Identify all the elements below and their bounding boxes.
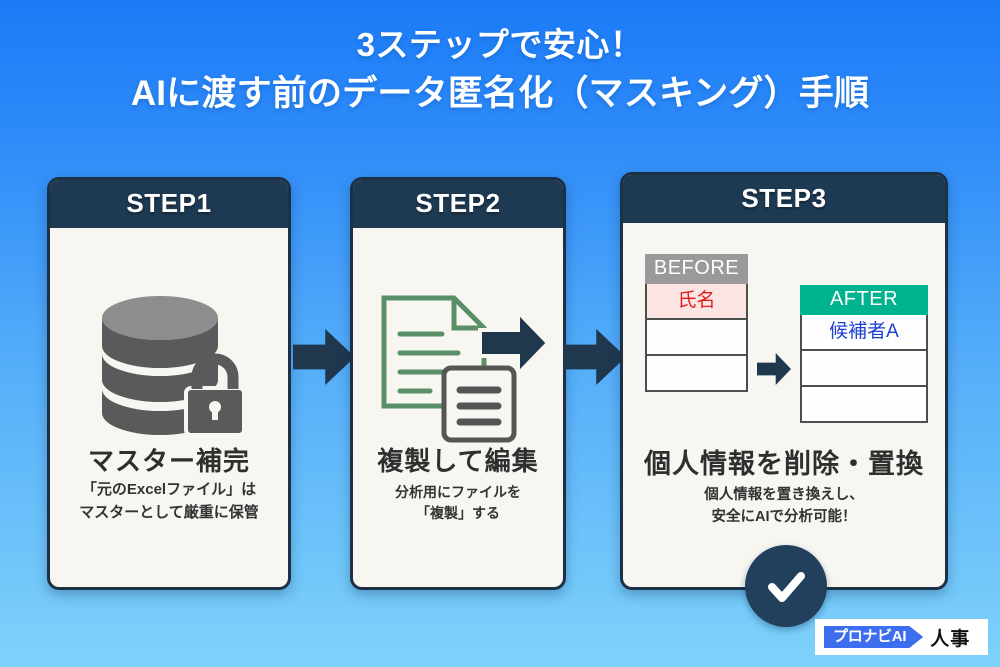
duplicate-document-icon [378, 292, 550, 444]
logo-badge-label: プロナビAI [824, 626, 923, 648]
title-line-2: AIに渡す前のデータ匿名化（マスキング）手順 [0, 69, 1000, 119]
connector-arrow-1-to-2 [293, 329, 355, 385]
after-table-header: AFTER [800, 285, 928, 315]
step-caption-2-line2: 「複製」する [416, 505, 500, 521]
before-table-row-1: 氏名 [645, 284, 748, 320]
before-table-row-2 [645, 320, 748, 356]
database-lock-icon [86, 292, 254, 440]
step-caption-2: 分析用にファイルを 「複製」する [350, 482, 566, 524]
page-title: 3ステップで安心！ AIに渡す前のデータ匿名化（マスキング）手順 [0, 22, 1000, 119]
step-badge-3: STEP3 [623, 175, 945, 223]
step-heading-1: マスター補完 [47, 441, 291, 478]
title-line-1: 3ステップで安心！ [0, 22, 1000, 69]
step-caption-1-line1: 「元のExcelファイル」は [82, 481, 256, 498]
step-heading-2: 複製して編集 [350, 441, 566, 478]
step-caption-2-line1: 分析用にファイルを [395, 484, 521, 500]
brand-logo: プロナビAI 人事 [815, 619, 988, 655]
step-badge-2: STEP2 [353, 180, 563, 228]
after-table-row-2 [800, 351, 928, 387]
step-caption-1: 「元のExcelファイル」は マスターとして厳重に保管 [47, 479, 291, 524]
connector-arrow-2-to-3 [564, 329, 626, 385]
before-table: BEFORE 氏名 [645, 254, 748, 392]
logo-suffix-label: 人事 [930, 624, 970, 651]
check-icon [762, 562, 810, 610]
step-badge-1: STEP1 [50, 180, 288, 228]
before-table-row-3 [645, 356, 748, 392]
check-badge [745, 545, 827, 627]
after-table-row-3 [800, 387, 928, 423]
step-heading-3: 個人情報を削除・置換 [620, 442, 948, 481]
step-caption-3-line2: 安全にAIで分析可能！ [712, 509, 857, 525]
step-caption-3-line1: 個人情報を置き換えし、 [704, 487, 864, 503]
after-table-row-1: 候補者A [800, 315, 928, 351]
step-caption-3: 個人情報を置き換えし、 安全にAIで分析可能！ [620, 485, 948, 529]
step-caption-1-line2: マスターとして厳重に保管 [79, 504, 259, 521]
after-table: AFTER 候補者A [800, 285, 928, 423]
before-table-header: BEFORE [645, 254, 748, 284]
